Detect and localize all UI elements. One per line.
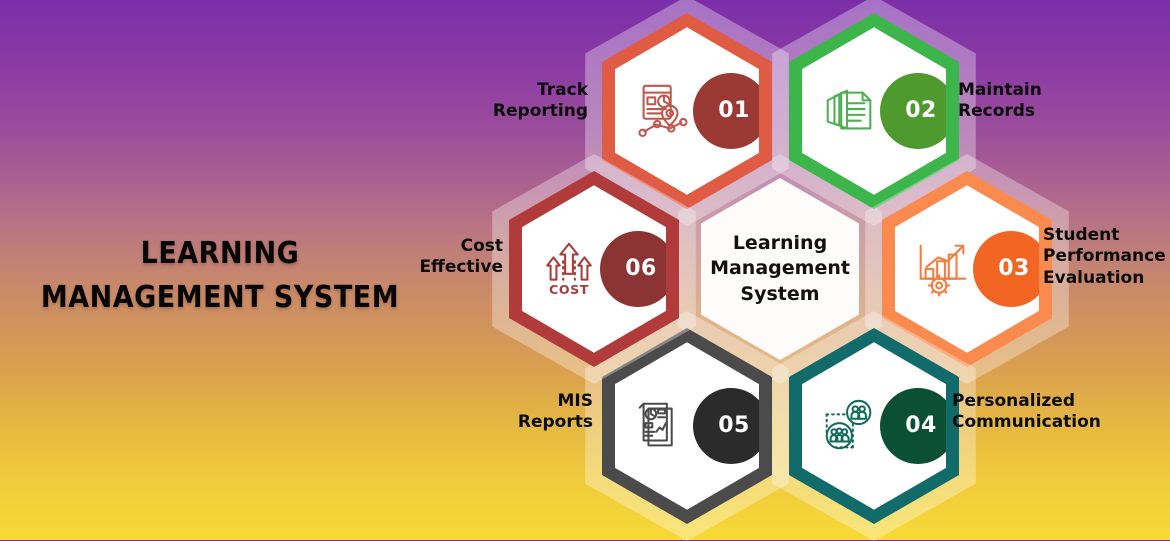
- hexagon-label-05: MIS Reports: [420, 391, 593, 434]
- report-documents-icon: [629, 393, 695, 459]
- hexagon-label-01: Track Reporting: [398, 80, 588, 123]
- page-title-line1: LEARNING: [10, 232, 430, 276]
- hexagon-number-badge: 02: [880, 73, 946, 149]
- infographic-canvas: LEARNING MANAGEMENT SYSTEM Learning Mana…: [0, 0, 1170, 540]
- hexagon-number-badge: 06: [600, 231, 666, 307]
- hexagon-node-04[interactable]: 04: [772, 311, 976, 541]
- hexagon-label-04: Personalized Communication: [952, 391, 1167, 434]
- center-hexagon-label: Learning Management System: [696, 231, 864, 307]
- hexagon-number-badge: 03: [973, 231, 1039, 307]
- hexagon-label-06: Cost Effective: [398, 236, 503, 279]
- page-title: LEARNING MANAGEMENT SYSTEM: [10, 232, 430, 319]
- hexagon-node-06[interactable]: 06 COST: [492, 154, 696, 384]
- hexagon-number-badge: 05: [693, 388, 759, 464]
- hexagon-number-badge: 01: [693, 73, 759, 149]
- people-network-icon: [816, 393, 882, 459]
- presentation-analytics-icon: [629, 78, 695, 144]
- svg-text:COST: COST: [549, 282, 589, 297]
- documents-stack-icon: [816, 78, 882, 144]
- hexagon-label-02: Maintain Records: [958, 80, 1163, 123]
- hexagon-label-03: Student Performance Evaluation: [1043, 225, 1170, 289]
- cost-arrows-icon: COST: [536, 236, 602, 302]
- page-title-line2: MANAGEMENT SYSTEM: [10, 276, 430, 320]
- hexagon-number-badge: 04: [880, 388, 946, 464]
- bar-chart-growth-gear-icon: [909, 236, 975, 302]
